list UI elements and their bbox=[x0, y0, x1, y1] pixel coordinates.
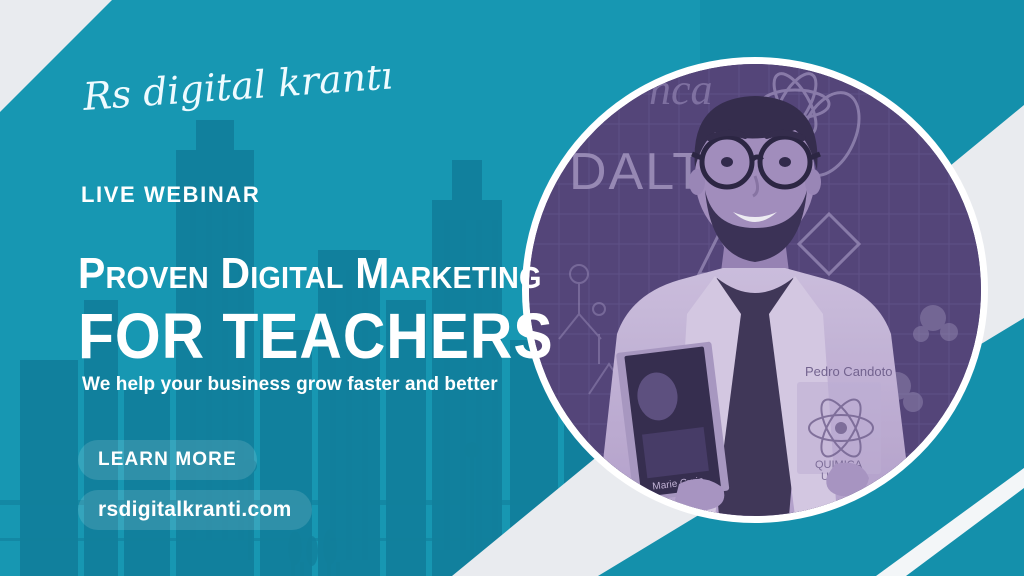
tagline: We help your business grow faster and be… bbox=[82, 375, 498, 394]
headline-line-2: FOR TEACHERS bbox=[78, 304, 554, 368]
learn-more-button[interactable]: LEARN MORE bbox=[78, 440, 257, 480]
brand-logo: Rs digital kranti bbox=[80, 66, 410, 128]
brand-logo-text: Rs digital kranti bbox=[81, 66, 395, 119]
content-column: Rs digital kranti LIVE WEBINAR Proven Di… bbox=[78, 0, 548, 576]
headline-line-1: Proven Digital Marketing bbox=[78, 252, 542, 296]
portrait-photo: DALTON nca bbox=[529, 64, 981, 516]
eyebrow-label: LIVE WEBINAR bbox=[81, 184, 260, 206]
webinar-promo-banner: DALTON nca bbox=[0, 0, 1024, 576]
website-link[interactable]: rsdigitalkranti.com bbox=[78, 490, 312, 530]
